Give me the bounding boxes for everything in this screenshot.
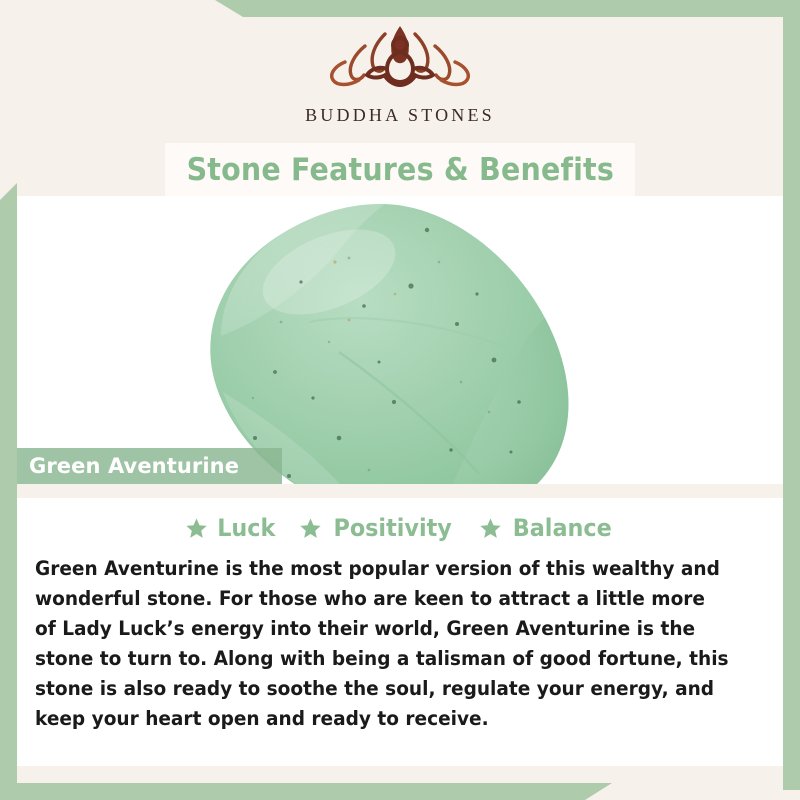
feature-label: Positivity [334, 514, 452, 542]
description-text: Green Aventurine is the most popular ver… [35, 554, 732, 734]
poster-canvas: BUDDHA STONES Stone Features & Benefits [0, 0, 800, 800]
feature-item-balance: Balance [479, 514, 616, 542]
feature-label: Luck [217, 514, 275, 542]
brand-header: BUDDHA STONES [0, 0, 800, 145]
description-panel: Luck Positivity Balance Green Aventurine… [17, 496, 783, 766]
star-icon [299, 517, 322, 540]
feature-item-luck: Luck [185, 514, 278, 542]
stone-name-badge: Green Aventurine [17, 448, 282, 484]
separator-strip [17, 484, 783, 498]
star-icon [479, 517, 502, 540]
brand-wordmark: BUDDHA STONES [305, 105, 495, 126]
stone-name-label: Green Aventurine [29, 454, 239, 478]
section-title-banner: Stone Features & Benefits [165, 143, 635, 196]
feature-label: Balance [512, 514, 611, 542]
page-title: Stone Features & Benefits [186, 152, 613, 188]
lotus-meditation-icon [315, 18, 485, 100]
feature-list: Luck Positivity Balance [17, 496, 783, 542]
feature-item-positivity: Positivity [299, 514, 456, 542]
star-icon [185, 517, 208, 540]
